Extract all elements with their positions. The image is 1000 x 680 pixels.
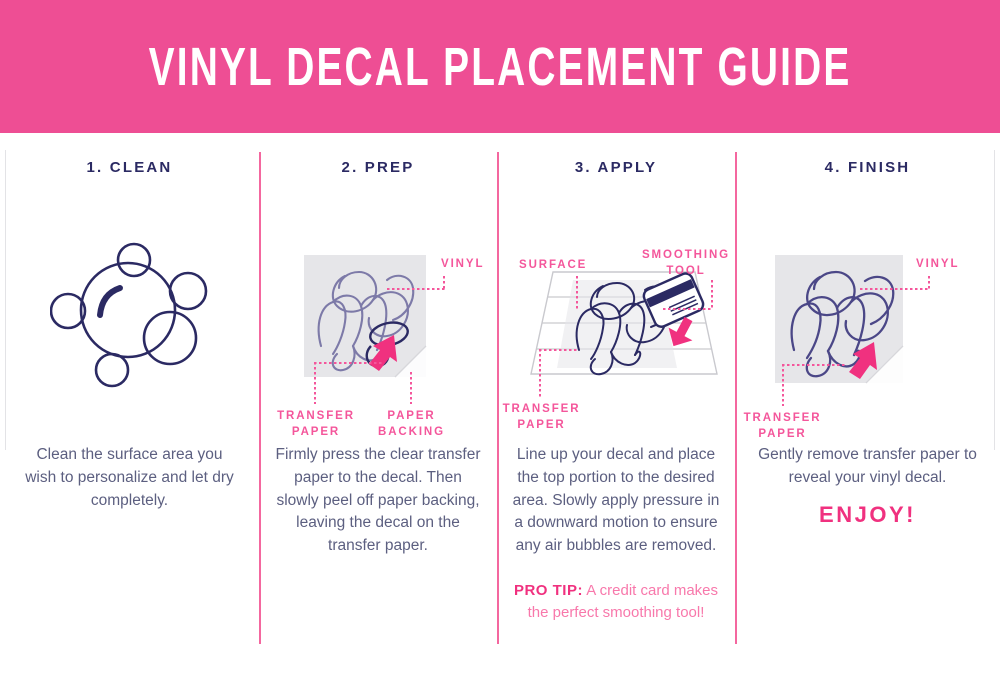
label-transfer-paper: TRANSFER PAPER <box>261 409 371 440</box>
vinyl-leader-vertical <box>443 276 445 290</box>
step-title-clean: 1. CLEAN <box>0 159 259 176</box>
label-smoothing-tool: SMOOTHING TOOL <box>637 248 735 279</box>
apply-transfer-leader-horizontal <box>539 349 577 351</box>
paper-backing-leader-vertical <box>410 372 412 404</box>
transfer-paper-leader-horizontal <box>314 362 382 364</box>
step-column-clean: 1. CLEAN Clean the surface area you wish… <box>0 133 259 680</box>
label-transfer-paper-apply: TRANSFER PAPER <box>489 402 594 433</box>
step-column-finish: 4. FINISH <box>735 133 1000 680</box>
label-transfer-paper-finish: TRANSFER PAPER <box>730 411 835 442</box>
smoothing-tool-leader-vertical <box>711 280 713 310</box>
finish-transfer-leader-vertical <box>782 364 784 406</box>
finish-vinyl-leader-vertical <box>928 276 930 290</box>
steps-container: 1. CLEAN Clean the surface area you wish… <box>0 133 1000 680</box>
smoothing-tool-leader-horizontal <box>663 308 713 310</box>
page-title: VINYL DECAL PLACEMENT GUIDE <box>149 40 852 94</box>
step-caption-prep: Firmly press the clear transfer paper to… <box>259 444 497 558</box>
step-caption-apply: Line up your decal and place the top por… <box>497 444 735 558</box>
illustration-surface-apply: SURFACE SMOOTHING TOOL TRANSFER PAPER <box>497 176 735 444</box>
illustration-decal-sheet-peel: VINYL TRANSFER PAPER PAPER BACKING <box>259 176 497 444</box>
soap-bubbles-icon <box>50 238 220 388</box>
step-column-apply: 3. APPLY <box>497 133 735 680</box>
decal-sheet-icon <box>299 250 449 385</box>
step-column-prep: 2. PREP <box>259 133 497 680</box>
illustration-soap-bubbles <box>0 176 259 444</box>
step-title-apply: 3. APPLY <box>497 159 735 176</box>
label-surface: SURFACE <box>519 258 587 274</box>
vinyl-leader-horizontal <box>387 288 445 290</box>
step-caption-clean: Clean the surface area you wish to perso… <box>0 444 259 512</box>
finish-vinyl-leader-horizontal <box>860 288 930 290</box>
step-caption-finish: Gently remove transfer paper to reveal y… <box>735 444 1000 490</box>
finish-decal-icon <box>770 250 930 390</box>
step-title-prep: 2. PREP <box>259 159 497 176</box>
surface-leader-vertical <box>576 276 578 310</box>
finish-transfer-leader-horizontal <box>782 364 846 366</box>
step-title-finish: 4. FINISH <box>735 159 1000 176</box>
pro-tip: PRO TIP: A credit card makes the perfect… <box>497 580 735 624</box>
label-vinyl: VINYL <box>441 257 484 273</box>
apply-transfer-leader-vertical <box>539 349 541 397</box>
label-vinyl-finish: VINYL <box>916 257 959 273</box>
enjoy-text: ENJOY! <box>735 502 1000 528</box>
pro-tip-lead: PRO TIP: <box>514 582 583 599</box>
illustration-decal-finish-peel: VINYL TRANSFER PAPER <box>735 176 1000 444</box>
transfer-paper-leader-vertical <box>314 362 316 404</box>
header-banner: VINYL DECAL PLACEMENT GUIDE <box>0 0 1000 133</box>
label-paper-backing: PAPER BACKING <box>359 409 464 440</box>
